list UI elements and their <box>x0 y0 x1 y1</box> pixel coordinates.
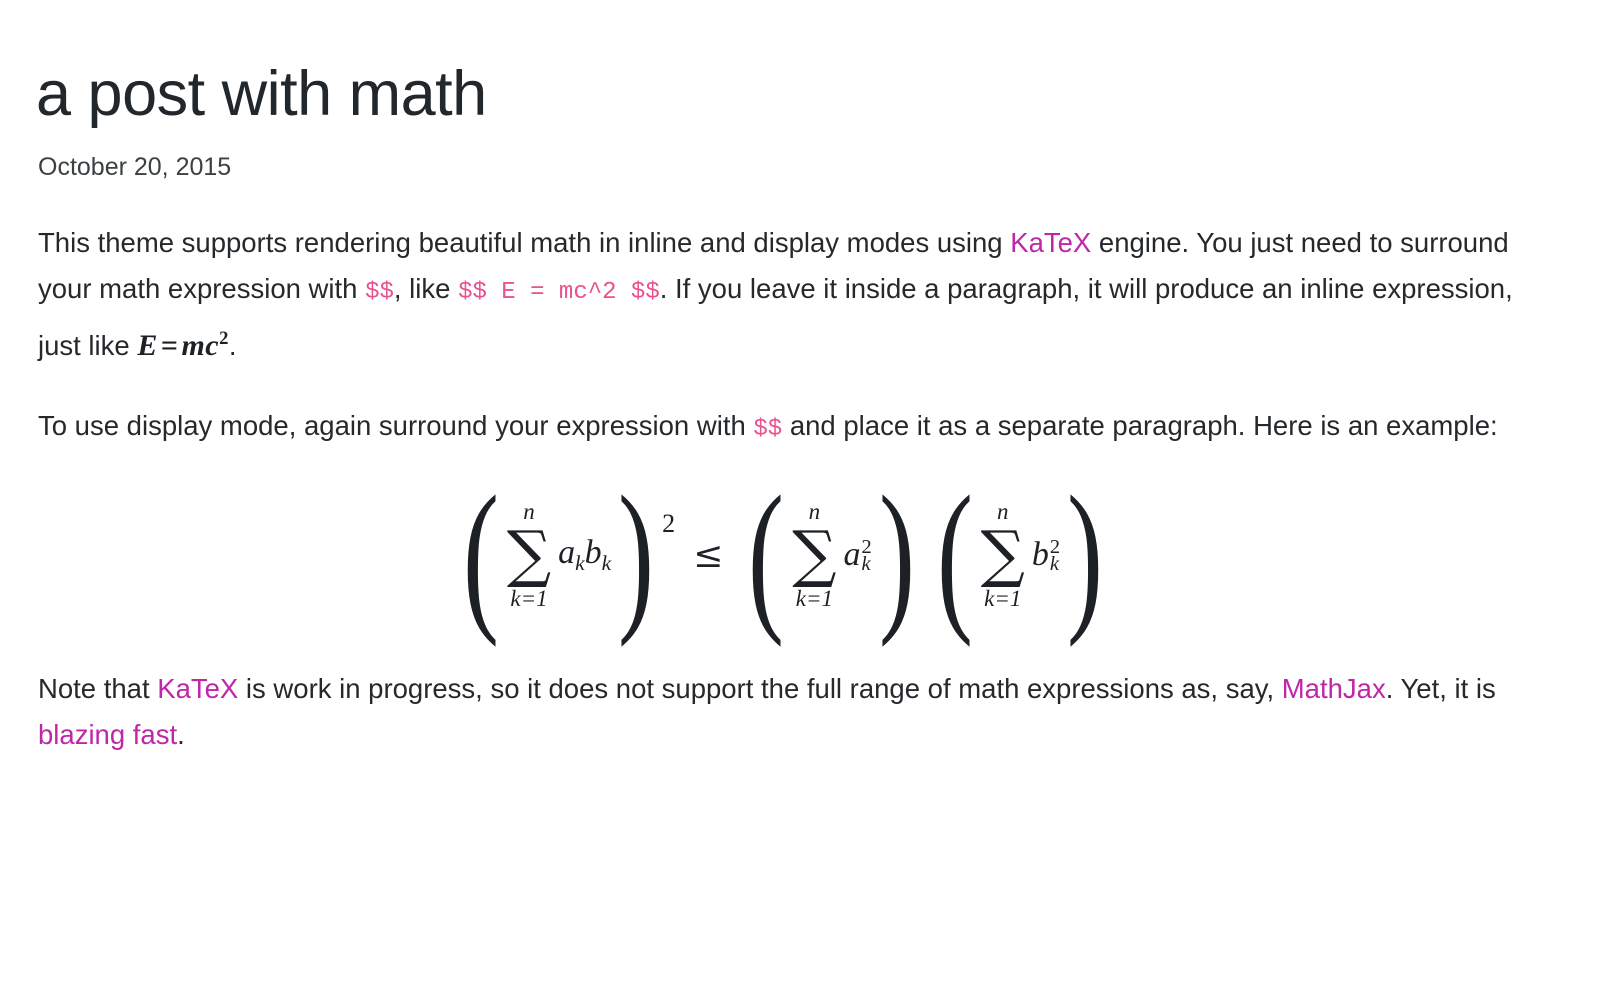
sigma-icon: ∑ <box>507 525 551 584</box>
text-segment: . <box>229 330 237 361</box>
text-segment: Note that <box>38 673 157 704</box>
text-segment: This theme supports rendering beautiful … <box>38 227 1010 258</box>
summation-2: n ∑ k=1 <box>792 500 836 610</box>
link-mathjax[interactable]: MathJax <box>1282 673 1386 704</box>
code-emc2-example: $$ E = mc^2 $$ <box>458 279 660 306</box>
text-segment: . Yet, it is <box>1386 673 1496 704</box>
inline-math-emc2: E=mc2 <box>137 329 229 362</box>
term-ak-squared: a2k <box>844 536 872 575</box>
summation-3: n ∑ k=1 <box>981 500 1025 610</box>
sum-lower-limit: k=1 <box>510 587 547 610</box>
paren-close-icon: ) <box>879 490 915 621</box>
sum-lower-limit: k=1 <box>796 587 833 610</box>
text-segment: . <box>177 719 185 750</box>
link-katex[interactable]: KaTeX <box>1010 227 1091 258</box>
code-dollar-dollar: $$ <box>753 416 782 443</box>
paren-close-icon: ) <box>1067 490 1103 621</box>
exponent-2: 2 <box>662 509 675 539</box>
post-date: October 20, 2015 <box>38 151 1560 184</box>
sigma-icon: ∑ <box>981 525 1025 584</box>
text-segment: is work in progress, so it does not supp… <box>238 673 1281 704</box>
sum-lower-limit: k=1 <box>984 587 1021 610</box>
term-ak-bk: akbk <box>558 534 611 576</box>
link-blazing-fast[interactable]: blazing fast <box>38 719 177 750</box>
text-segment: and place it as a separate paragraph. He… <box>782 410 1497 441</box>
paragraph-note: Note that KaTeX is work in progress, so … <box>38 666 1528 758</box>
page-title: a post with math <box>36 60 1560 129</box>
paren-close-icon: ) <box>618 490 654 621</box>
paren-open-icon: ( <box>937 490 973 621</box>
paren-open-icon: ( <box>463 490 499 621</box>
post-body: This theme supports rendering beautiful … <box>38 220 1528 758</box>
paren-open-icon: ( <box>748 490 784 621</box>
text-segment: , like <box>394 273 458 304</box>
sigma-icon: ∑ <box>792 525 836 584</box>
link-katex[interactable]: KaTeX <box>157 673 238 704</box>
term-bk-squared: b2k <box>1032 536 1060 575</box>
paragraph-intro: This theme supports rendering beautiful … <box>38 220 1528 369</box>
post-page: a post with math October 20, 2015 This t… <box>0 0 1600 1000</box>
display-math-cauchy-schwarz: ( n ∑ k=1 akbk ) 2 ≤ ( n ∑ k=1 a2k ) <box>38 497 1528 614</box>
code-dollar-dollar: $$ <box>365 279 394 306</box>
text-segment: To use display mode, again surround your… <box>38 410 753 441</box>
summation-1: n ∑ k=1 <box>507 500 551 610</box>
paragraph-display-mode: To use display mode, again surround your… <box>38 403 1528 453</box>
relation-leq-icon: ≤ <box>693 535 723 576</box>
